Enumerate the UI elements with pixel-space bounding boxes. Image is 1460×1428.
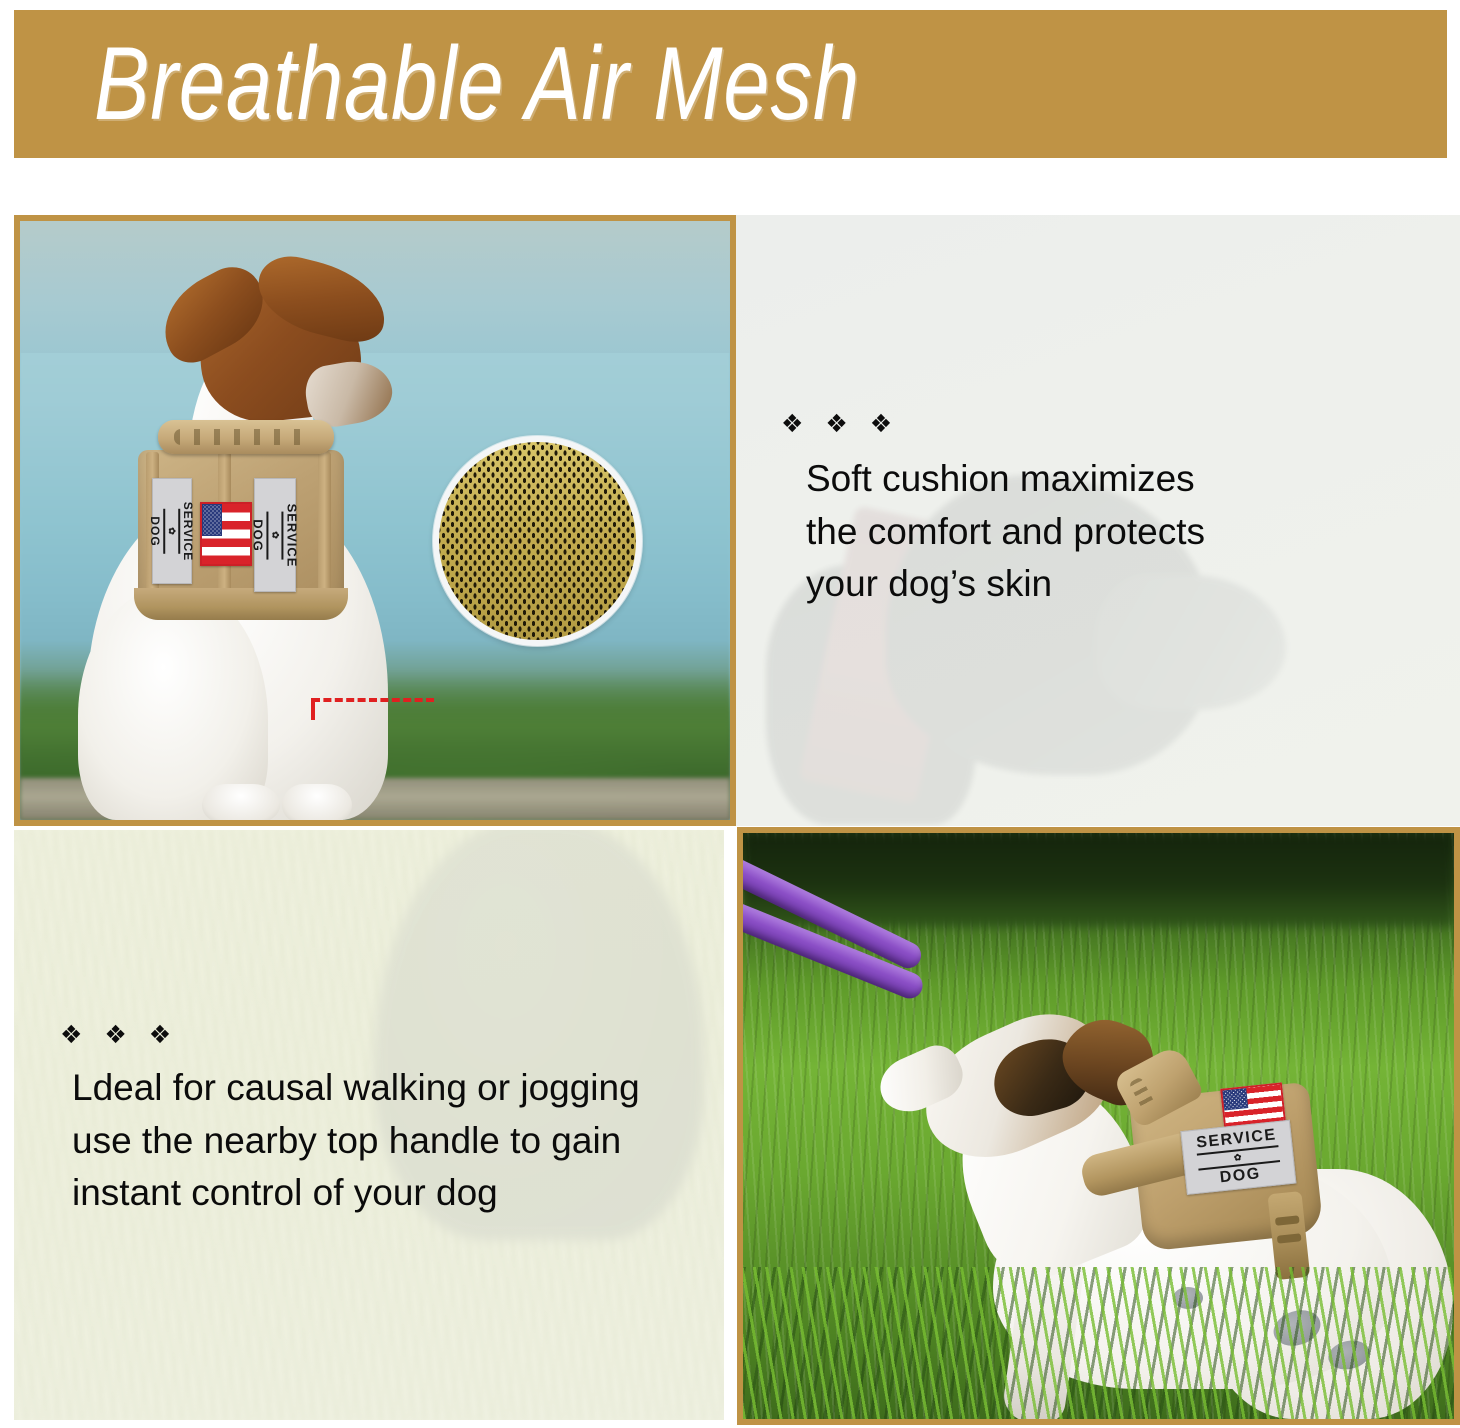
air-mesh-magnifier-icon [433, 436, 642, 646]
flag-canton [202, 504, 222, 536]
dog-foot [282, 784, 352, 824]
flag-canton [1222, 1088, 1248, 1111]
paw-icon: ✿ [1233, 1152, 1243, 1162]
photo-dog-harness-waterfront: SERVICE ✿ DOG SERVICE ✿ DOG [14, 215, 736, 826]
paw-icon: ✿ [271, 531, 280, 540]
patch-divider [179, 508, 181, 553]
patch-divider [164, 508, 166, 553]
service-dog-patch-left: SERVICE ✿ DOG [152, 478, 192, 584]
patch-line-1: SERVICE [183, 501, 195, 560]
paw-icon: ✿ [168, 527, 177, 536]
harness-top-handle [158, 420, 334, 454]
patch-divider [282, 511, 284, 560]
feature-block-top-handle: ❖ ❖ ❖ Ldeal for causal walking or joggin… [14, 830, 724, 1420]
dog-foot [202, 784, 280, 824]
feature-text-top-handle: Ldeal for causal walking or jogging use … [72, 1062, 712, 1220]
photo-dog-ring-toy-grass: SERVICE ✿ DOG [737, 827, 1460, 1425]
tactical-harness: SERVICE ✿ DOG SERVICE ✿ DOG [130, 412, 360, 632]
us-flag-patch-icon [200, 502, 252, 566]
banner-title: Breathable Air Mesh [94, 32, 860, 136]
patch-line-2: DOG [252, 519, 265, 552]
feature-bullet-glyphs: ❖ ❖ ❖ [60, 1022, 178, 1047]
header-banner: Breathable Air Mesh [14, 10, 1447, 158]
product-infographic: Breathable Air Mesh [0, 0, 1460, 1428]
service-dog-patch: SERVICE ✿ DOG [1180, 1120, 1296, 1195]
foreground-grass-blades [743, 1267, 1454, 1419]
callout-dashed-line [312, 698, 434, 702]
panel-grid: SERVICE ✿ DOG SERVICE ✿ DOG [0, 205, 1460, 1428]
feature-block-soft-cushion: ❖ ❖ ❖ Soft cushion maximizes the comfort… [736, 215, 1460, 826]
patch-line-2: DOG [150, 516, 162, 546]
feature-text-soft-cushion: Soft cushion maximizes the comfort and p… [806, 453, 1426, 611]
feature-bullet-glyphs: ❖ ❖ ❖ [781, 411, 899, 436]
patch-divider [267, 511, 269, 560]
patch-line-2: DOG [1219, 1166, 1261, 1186]
patch-line-1: SERVICE [286, 503, 299, 567]
tactical-harness: SERVICE ✿ DOG [1077, 1036, 1370, 1293]
service-dog-patch-right: SERVICE ✿ DOG [254, 478, 296, 592]
harness-bottom-band [134, 588, 348, 620]
